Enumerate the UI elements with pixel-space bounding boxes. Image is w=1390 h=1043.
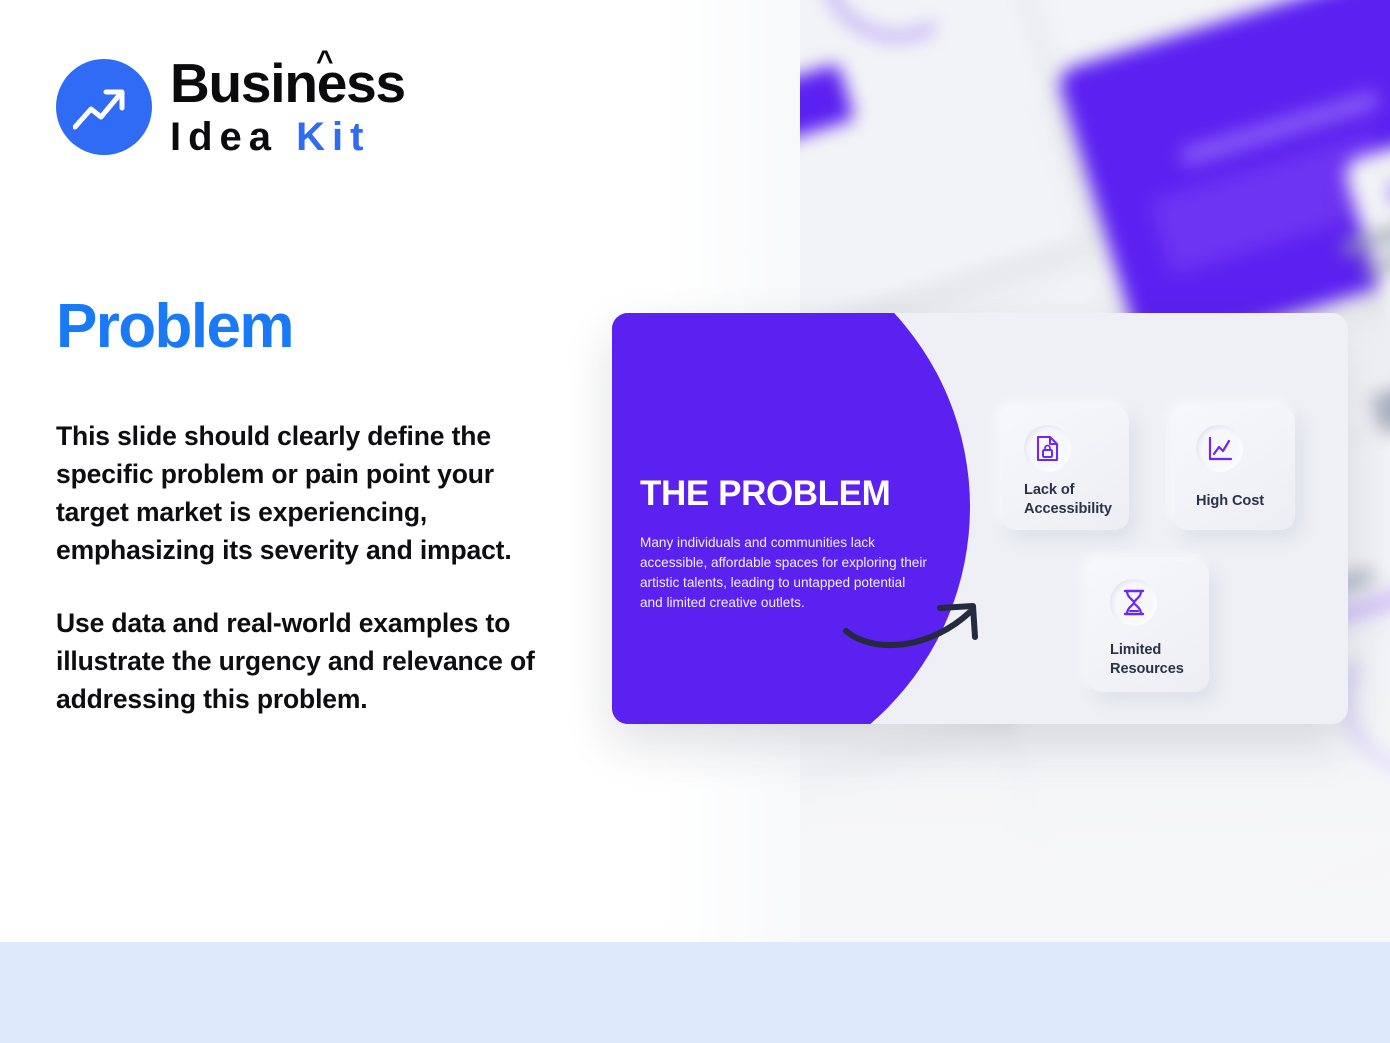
body-copy: This slide should clearly define the spe… [56, 417, 566, 718]
hourglass-icon [1110, 579, 1157, 626]
line-chart-icon [1196, 425, 1243, 472]
brand-line2-kit: Kit [296, 115, 370, 159]
feature-card-high-cost[interactable]: High Cost [1174, 407, 1295, 530]
page-title: Problem [56, 294, 293, 359]
brand-wordmark: Business ^ Idea Kit [170, 56, 405, 157]
body-paragraph-2: Use data and real-world examples to illu… [56, 604, 566, 718]
body-paragraph-1: This slide should clearly define the spe… [56, 417, 566, 570]
feature-label: High Cost [1196, 492, 1301, 511]
bottom-accent-bar [0, 942, 1390, 1043]
brand-line1-text: Business [170, 52, 405, 114]
trending-up-arrow-icon [56, 59, 152, 155]
brand-line-business: Business ^ [170, 56, 405, 111]
bg-ring-shape [807, 0, 987, 55]
slide-preview-page: Business ^ Idea Kit Problem This slide s… [0, 0, 1390, 1043]
bg-purple-band [791, 63, 855, 206]
bg-accent-dot [1386, 179, 1390, 206]
slide-heading: THE PROBLEM [640, 476, 890, 511]
slide-preview-card[interactable]: THE PROBLEM Many individuals and communi… [612, 313, 1348, 724]
curved-arrow-icon [842, 595, 1007, 660]
brand-logo: Business ^ Idea Kit [56, 56, 405, 157]
feature-label: Limited Resources [1110, 641, 1210, 678]
document-lock-icon [1024, 425, 1071, 472]
feature-label: Lack of Accessibility [1024, 481, 1124, 518]
bg-slide-purple [1056, 0, 1390, 359]
brand-line2-idea: Idea [170, 115, 296, 159]
purple-circle-shape [612, 313, 970, 724]
feature-card-lack-of-accessibility[interactable]: Lack of Accessibility [1002, 407, 1129, 530]
brand-circumflex-accent: ^ [316, 47, 332, 77]
feature-card-limited-resources[interactable]: Limited Resources [1088, 561, 1209, 692]
brand-line-idea-kit: Idea Kit [170, 117, 405, 157]
bg-text-block [1370, 359, 1390, 435]
